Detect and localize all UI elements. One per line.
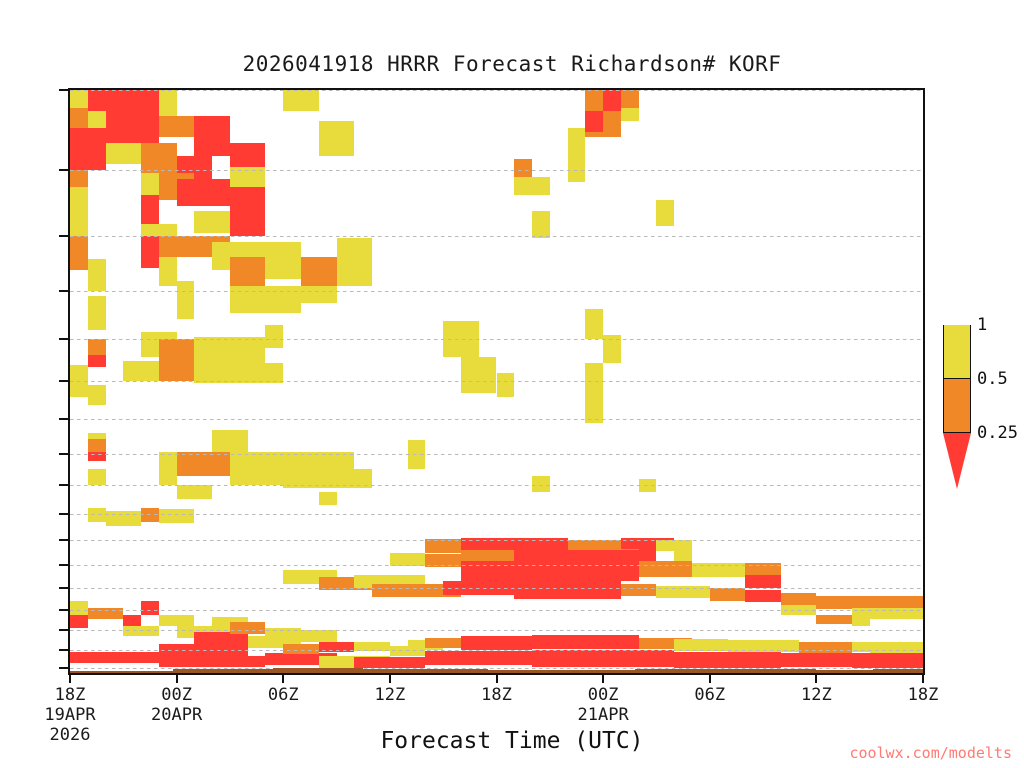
terrain-mask	[70, 90, 923, 673]
y-axis-tick-mark	[59, 89, 68, 91]
x-label-time: 06Z	[694, 685, 725, 705]
y-axis-tick-mark	[59, 290, 68, 292]
y-axis-tick-mark	[59, 380, 68, 382]
y-axis-tick-mark	[59, 564, 68, 566]
x-axis-tick-mark	[815, 675, 817, 683]
y-axis-tick-mark	[59, 418, 68, 420]
x-label-time: 12Z	[375, 685, 406, 705]
y-axis-tick-mark	[59, 629, 68, 631]
x-axis-tick-mark	[69, 675, 71, 683]
y-axis-tick-mark	[59, 235, 68, 237]
y-axis-tick-mark	[59, 453, 68, 455]
heatmap-plot-area	[68, 88, 925, 675]
x-label-time: 18Z	[55, 685, 86, 705]
x-axis-tick-label: 00Z20APR	[151, 685, 202, 725]
x-label-time: 12Z	[801, 685, 832, 705]
x-axis-tick-label: 00Z21APR	[578, 685, 629, 725]
x-axis-tick-label: 06Z	[268, 685, 299, 705]
x-label-time: 00Z	[588, 685, 619, 705]
x-axis-tick-label: 18Z	[908, 685, 939, 705]
x-label-time: 00Z	[161, 685, 192, 705]
watermark: coolwx.com/modelts	[849, 744, 1012, 762]
colorbar-arrow-bottom	[943, 433, 971, 489]
x-axis-tick-mark	[709, 675, 711, 683]
x-axis-tick-mark	[389, 675, 391, 683]
x-label-date: 19APR	[44, 705, 95, 725]
x-axis-tick-label: 18Z	[481, 685, 512, 705]
colorbar-segment-yellow	[943, 325, 971, 379]
terrain-segment	[816, 670, 873, 673]
colorbar-segment-orange	[943, 379, 971, 433]
colorbar-label-1: 1	[977, 315, 987, 335]
y-axis-tick-mark	[59, 539, 68, 541]
x-axis-tick-label: 12Z	[375, 685, 406, 705]
x-axis-tick-mark	[282, 675, 284, 683]
x-axis-tick-mark	[176, 675, 178, 683]
terrain-segment	[70, 671, 173, 673]
terrain-segment	[488, 670, 635, 673]
terrain-segment	[173, 669, 273, 673]
chart-page: 2026041918 HRRR Forecast Richardson# KOR…	[0, 0, 1024, 768]
terrain-segment	[635, 669, 816, 673]
x-label-time: 06Z	[268, 685, 299, 705]
x-axis-tick-label: 06Z	[694, 685, 725, 705]
chart-title: 2026041918 HRRR Forecast Richardson# KOR…	[0, 52, 1024, 76]
colorbar-label-025: 0.25	[977, 423, 1018, 443]
colorbar-label-05: 0.5	[977, 369, 1008, 389]
x-axis-tick-mark	[602, 675, 604, 683]
y-axis-tick-mark	[59, 338, 68, 340]
terrain-segment	[273, 668, 364, 673]
y-axis-tick-mark	[59, 649, 68, 651]
x-label-date: 20APR	[151, 705, 202, 725]
x-label-time: 18Z	[481, 685, 512, 705]
colorbar-arrow-top	[943, 295, 971, 325]
y-axis-tick-mark	[59, 169, 68, 171]
colorbar[interactable]: 1 0.5 0.25	[943, 295, 971, 489]
x-label-time: 18Z	[908, 685, 939, 705]
x-axis-tick-mark	[922, 675, 924, 683]
y-axis-tick-mark	[59, 587, 68, 589]
heatmap-cell	[923, 597, 925, 610]
y-axis-tick-mark	[59, 484, 68, 486]
y-axis-tick-mark	[59, 513, 68, 515]
x-axis-tick-mark	[496, 675, 498, 683]
y-axis-tick-mark	[59, 667, 68, 669]
x-axis-tick-label: 12Z	[801, 685, 832, 705]
x-label-date: 21APR	[578, 705, 629, 725]
terrain-segment	[363, 669, 487, 673]
y-axis-tick-mark	[59, 609, 68, 611]
terrain-segment	[873, 669, 923, 673]
